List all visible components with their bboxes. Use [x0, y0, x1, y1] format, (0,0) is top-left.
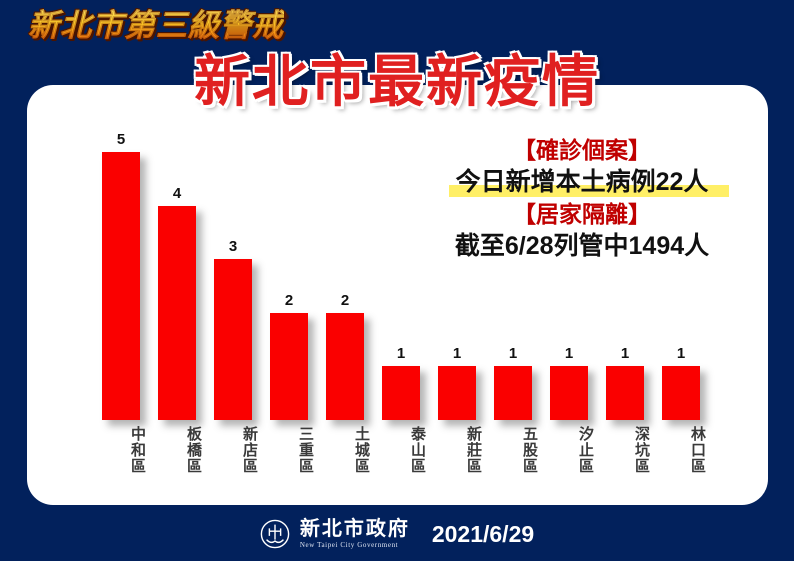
category-label: 林口區 [655, 426, 707, 474]
bar-value-label: 1 [599, 345, 651, 362]
alert-level-badge: 新北市第三級警戒 [28, 6, 284, 46]
category-label: 泰山區 [375, 426, 427, 474]
bar-value-label: 1 [431, 345, 483, 362]
infographic-poster: 新北市第三級警戒 新北市最新疫情 【確診個案】 今日新增本土病例22人 【居家隔… [0, 0, 794, 561]
bar-value-label: 4 [151, 185, 203, 202]
bar-column: 4 [151, 130, 203, 420]
publish-date: 2021/6/29 [432, 521, 534, 548]
bar-value-label: 1 [375, 345, 427, 362]
bar [662, 366, 700, 420]
category-label: 中和區 [95, 426, 147, 474]
bar [326, 313, 364, 420]
bar-column: 3 [207, 130, 259, 420]
bar [382, 366, 420, 420]
new-taipei-city-emblem-icon [260, 519, 290, 549]
category-label: 新莊區 [431, 426, 483, 474]
content-card: 【確診個案】 今日新增本土病例22人 【居家隔離】 截至6/28列管中1494人… [27, 85, 768, 505]
bar-column: 2 [263, 130, 315, 420]
category-label: 板橋區 [151, 426, 203, 474]
government-name: 新北市政府 New Taipei City Government [300, 519, 410, 549]
category-label: 五股區 [487, 426, 539, 474]
category-label: 三重區 [263, 426, 315, 474]
bar-value-label: 3 [207, 238, 259, 255]
bar [438, 366, 476, 420]
category-label: 新店區 [207, 426, 259, 474]
bar [158, 206, 196, 420]
bar [494, 366, 532, 420]
bar [270, 313, 308, 420]
category-label: 深坑區 [599, 426, 651, 474]
bar-column: 5 [95, 130, 147, 420]
bar-value-label: 2 [263, 292, 315, 309]
bar [102, 152, 140, 420]
category-label: 汐止區 [543, 426, 595, 474]
bar-value-label: 5 [95, 131, 147, 148]
bar [606, 366, 644, 420]
category-label: 土城區 [319, 426, 371, 474]
bar-column: 2 [319, 130, 371, 420]
page-title: 新北市最新疫情 [0, 50, 794, 114]
footer-bar: 新北市政府 New Taipei City Government 2021/6/… [0, 507, 794, 561]
gov-name-zh: 新北市政府 [300, 519, 410, 539]
gov-name-en: New Taipei City Government [300, 542, 410, 549]
confirmed-cases-value: 今日新增本土病例22人 [422, 165, 742, 199]
bar-value-label: 1 [655, 345, 707, 362]
bar [550, 366, 588, 420]
bar-value-label: 2 [319, 292, 371, 309]
bar-value-label: 1 [543, 345, 595, 362]
bar [214, 259, 252, 420]
bar-value-label: 1 [487, 345, 539, 362]
bar-column: 1 [375, 130, 427, 420]
